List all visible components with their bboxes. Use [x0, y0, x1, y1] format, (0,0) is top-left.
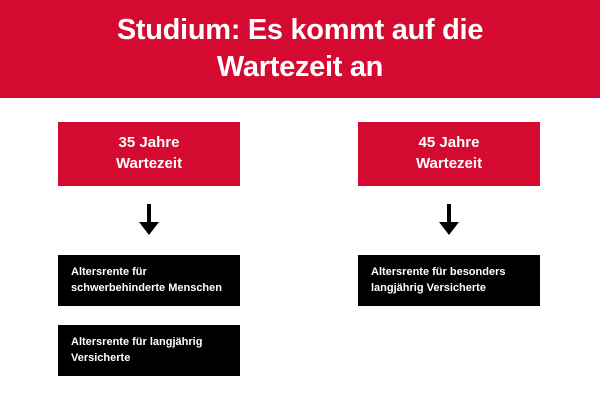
waiting-period-label-45: 45 Jahre Wartezeit — [389, 133, 509, 174]
waiting-period-label-35: 35 Jahre Wartezeit — [89, 133, 209, 174]
pension-type-box: Altersrente für schwerbehinderte Mensche… — [58, 255, 240, 306]
column-35-jahre: 35 Jahre Wartezeit Altersrente für schwe… — [58, 122, 240, 376]
arrow-connector-45 — [358, 186, 540, 255]
pension-type-label: Altersrente für besonders langjährig Ver… — [371, 265, 528, 297]
arrow-down-icon — [438, 204, 460, 238]
pension-type-label: Altersrente für schwerbehinderte Mensche… — [71, 265, 228, 297]
arrow-down-icon — [138, 204, 160, 238]
waiting-period-box-35: 35 Jahre Wartezeit — [58, 122, 240, 186]
pension-type-box: Altersrente für langjährig Versicherte — [58, 325, 240, 376]
pension-type-label: Altersrente für langjährig Versicherte — [71, 335, 228, 367]
pension-type-box: Altersrente für besonders langjährig Ver… — [358, 255, 540, 306]
header-band: Studium: Es kommt auf die Wartezeit an — [0, 0, 600, 98]
column-45-jahre: 45 Jahre Wartezeit Altersrente für beson… — [358, 122, 540, 306]
arrow-connector-35 — [58, 186, 240, 255]
waiting-period-box-45: 45 Jahre Wartezeit — [358, 122, 540, 186]
infographic-canvas: Studium: Es kommt auf die Wartezeit an 3… — [0, 0, 600, 400]
page-title: Studium: Es kommt auf die Wartezeit an — [55, 12, 545, 86]
